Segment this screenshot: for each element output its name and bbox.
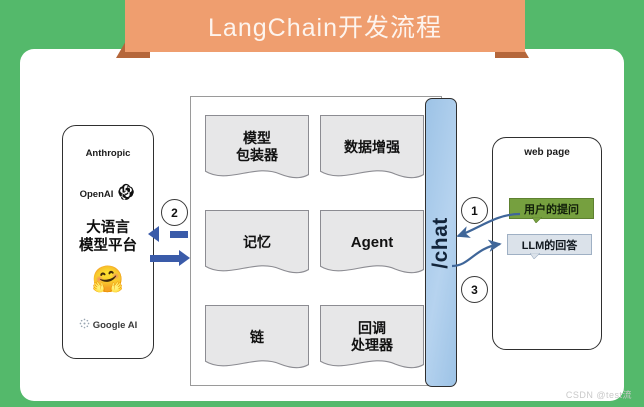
bubble-tail-icon [532, 217, 542, 223]
framework-card-callback-handler[interactable]: 回调 处理器 [320, 305, 424, 377]
page-title: LangChain开发流程 [208, 8, 442, 44]
openai-rosette-icon [116, 182, 136, 207]
framework-card-line2: 处理器 [351, 337, 393, 354]
framework-card-line2: 包装器 [236, 147, 278, 164]
step-badge-3: 3 [461, 276, 488, 303]
google-ai-dotted-icon [79, 316, 90, 334]
step-badge-2: 2 [161, 199, 188, 226]
web-page-title: web page [493, 147, 601, 158]
langchain-framework-container: 模型 包装器 数据增强 记忆 [190, 96, 442, 386]
openai-label: OpenAI [80, 189, 114, 200]
arrow-to-llm-shaft [170, 231, 188, 238]
title-banner: LangChain开发流程 [0, 0, 644, 60]
diagram-canvas: LangChain开发流程 Anthropic OpenAI 大语言 模型平台 … [0, 0, 644, 407]
framework-card-agent[interactable]: Agent [320, 210, 424, 282]
card-wave-edge [205, 169, 311, 187]
framework-card-label: 数据增强 [344, 139, 400, 156]
framework-card-label: 链 [250, 329, 264, 346]
csdn-watermark: CSDN @test流 [566, 388, 632, 401]
llm-platform-title: 大语言 模型平台 [63, 219, 153, 255]
card-wave-edge [205, 264, 311, 282]
framework-card-line1: 链 [250, 329, 264, 346]
bubble-tail-icon [530, 253, 540, 259]
arrow-to-llm-head [148, 226, 159, 242]
chat-endpoint-label: /chat [429, 217, 453, 269]
framework-card-label: 回调 处理器 [351, 320, 393, 354]
card-wave-edge [320, 264, 426, 282]
arrow-to-framework-head [179, 250, 190, 266]
framework-card-label: 记忆 [243, 234, 271, 251]
card-wave-edge [320, 169, 426, 187]
framework-card-line1: 回调 [351, 320, 393, 337]
web-page-panel: web page 用户的提问 LLM的回答 [492, 137, 602, 350]
card-wave-edge [320, 359, 426, 377]
framework-card-memory[interactable]: 记忆 [205, 210, 309, 282]
framework-card-label: Agent [351, 234, 394, 251]
step-badge-1: 1 [461, 197, 488, 224]
framework-card-line1: 模型 [236, 130, 278, 147]
user-question-bubble: 用户的提问 [509, 198, 594, 219]
openai-row: OpenAI [63, 182, 153, 207]
huggingface-icon: 🤗 [63, 264, 153, 294]
user-question-text: 用户的提问 [524, 201, 579, 217]
framework-card-line1: 记忆 [243, 234, 271, 251]
framework-card-data-augmentation[interactable]: 数据增强 [320, 115, 424, 187]
llm-answer-bubble: LLM的回答 [507, 234, 592, 255]
llm-platform-panel: Anthropic OpenAI 大语言 模型平台 🤗 [62, 125, 154, 359]
framework-card-label: 模型 包装器 [236, 130, 278, 164]
framework-card-model-wrapper[interactable]: 模型 包装器 [205, 115, 309, 187]
framework-card-line1: Agent [351, 234, 394, 251]
framework-card-chain[interactable]: 链 [205, 305, 309, 377]
framework-card-line1: 数据增强 [344, 139, 400, 156]
banner-body: LangChain开发流程 [125, 0, 525, 52]
google-ai-row: Google AI [63, 316, 153, 334]
llm-answer-text: LLM的回答 [522, 237, 578, 253]
google-ai-label: Google AI [93, 320, 138, 331]
llm-platform-title-line1: 大语言 [63, 219, 153, 237]
chat-endpoint-bar[interactable]: /chat [425, 98, 457, 387]
anthropic-label: Anthropic [63, 148, 153, 159]
llm-platform-title-line2: 模型平台 [63, 237, 153, 255]
arrow-to-framework-shaft [150, 255, 180, 262]
card-wave-edge [205, 359, 311, 377]
